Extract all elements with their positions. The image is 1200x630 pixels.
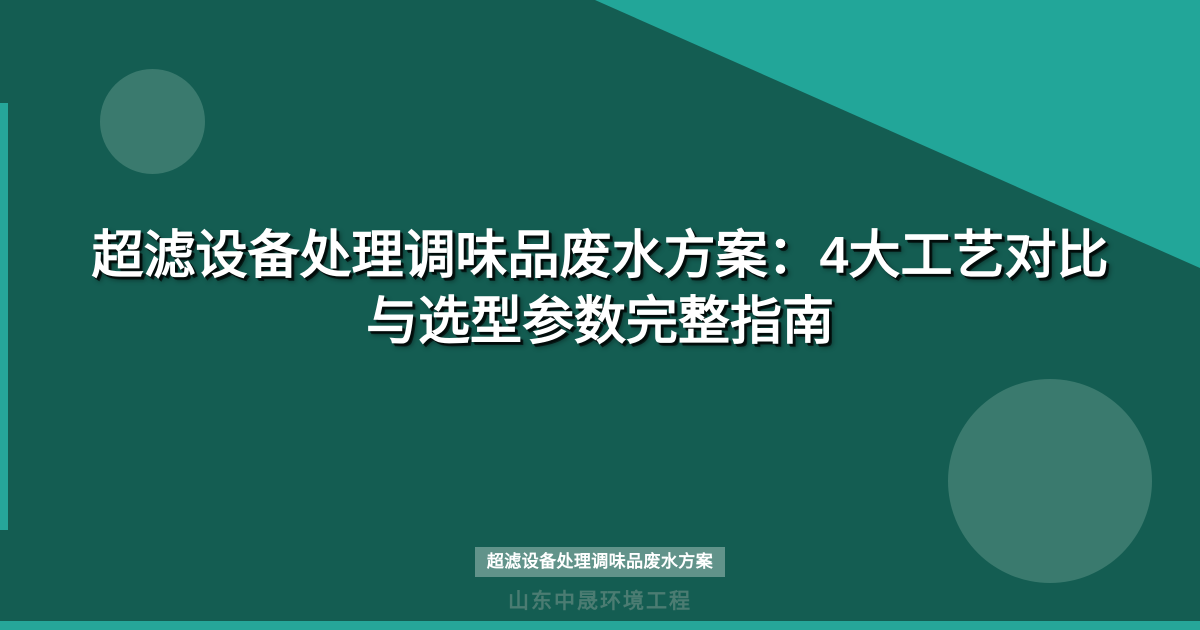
footer-watermark: 山东中晟环境工程: [508, 589, 692, 614]
title-block: 超滤设备处理调味品废水方案：4大工艺对比与选型参数完整指南: [90, 223, 1110, 355]
poster-content: 超滤设备处理调味品废水方案：4大工艺对比与选型参数完整指南: [0, 0, 1200, 630]
footer-badge: 超滤设备处理调味品废水方案: [475, 547, 725, 577]
poster-canvas: 超滤设备处理调味品废水方案：4大工艺对比与选型参数完整指南 超滤设备处理调味品废…: [0, 0, 1200, 630]
poster-footer: 超滤设备处理调味品废水方案 山东中晟环境工程: [0, 547, 1200, 614]
poster-title: 超滤设备处理调味品废水方案：4大工艺对比与选型参数完整指南: [90, 223, 1110, 355]
